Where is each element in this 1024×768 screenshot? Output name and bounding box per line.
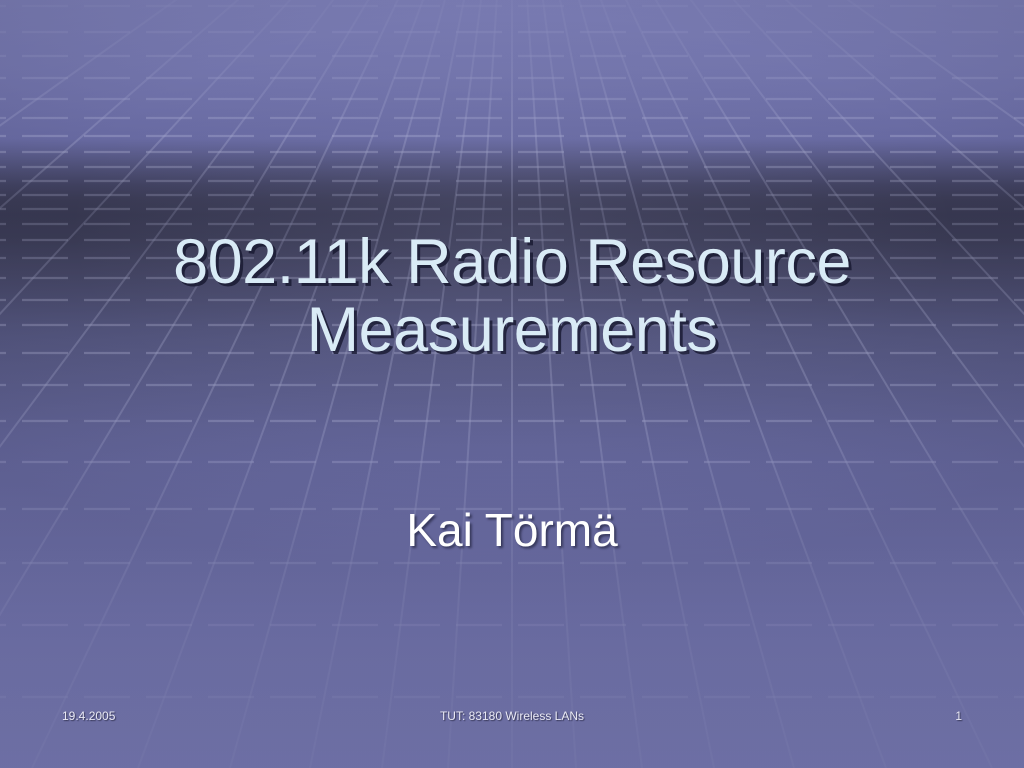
slide-footer: 19.4.2005 TUT: 83180 Wireless LANs 1 [0,706,1024,728]
slide-subtitle-author: Kai Törmä [62,505,962,556]
presentation-slide: 802.11k Radio Resource Measurements Kai … [0,0,1024,768]
title-line-2: Measurements [62,296,962,364]
slide-title: 802.11k Radio Resource Measurements [62,228,962,364]
footer-page-number: 1 [900,709,962,723]
footer-course-label: TUT: 83180 Wireless LANs [0,709,1024,723]
title-line-1: 802.11k Radio Resource [62,228,962,296]
slide-content: 802.11k Radio Resource Measurements Kai … [0,0,1024,768]
